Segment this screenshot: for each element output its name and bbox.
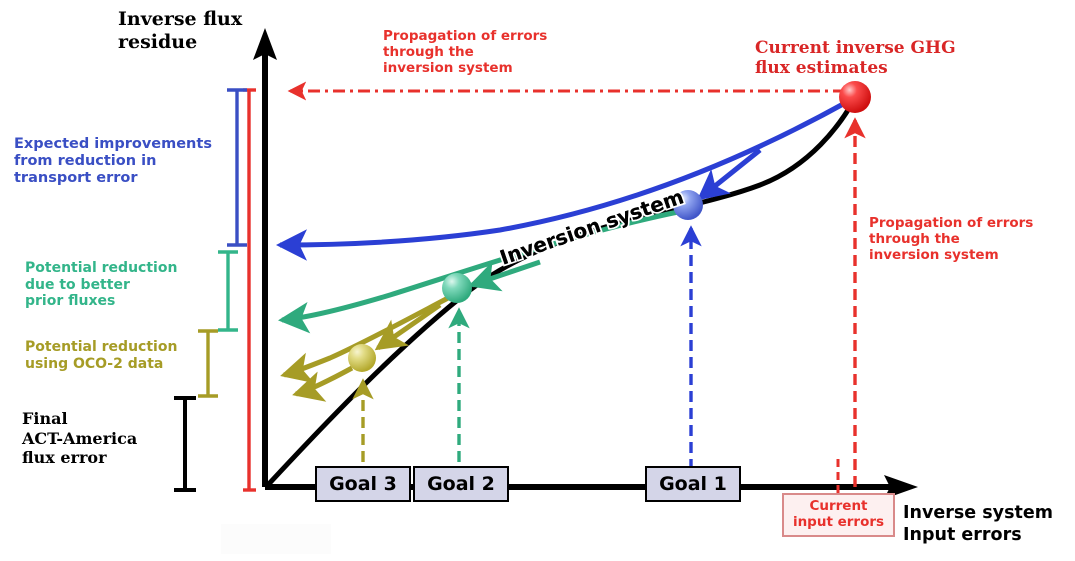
propagation-top-label: Propagation of errors through the invers… (383, 29, 547, 77)
goal-1-box[interactable]: Goal 1 (645, 466, 741, 502)
olive-arrow-lower (296, 368, 352, 394)
axis-y (253, 28, 277, 487)
goal-3-box[interactable]: Goal 3 (315, 466, 411, 502)
propagation-right-label: Propagation of errors through the invers… (869, 216, 1033, 264)
background-artifact (221, 524, 331, 554)
expected-improvements-label: Expected improvements from reduction in … (14, 136, 212, 187)
potential-prior-fluxes-label: Potential reduction due to better prior … (25, 260, 177, 310)
marker-current-estimate (839, 81, 871, 113)
bracket-total-red (243, 90, 256, 490)
potential-oco2-label: Potential reduction using OCO-2 data (25, 339, 177, 372)
final-act-america-label: Final ACT-America flux error (22, 409, 137, 468)
bracket-expected-improvements (227, 90, 247, 245)
diagram-canvas: Inverse flux residue Inverse system Inpu… (0, 0, 1075, 561)
bracket-potential-oco2 (198, 331, 218, 396)
response-curve-black (266, 100, 854, 487)
x-axis-label: Inverse system Input errors (903, 503, 1053, 547)
current-ghg-estimates-label: Current inverse GHG flux estimates (755, 38, 956, 79)
bracket-final-act-america (174, 398, 196, 490)
marker-goal-3 (348, 344, 376, 372)
y-axis-label: Inverse flux residue (118, 8, 242, 54)
marker-goal-2 (442, 273, 472, 303)
current-input-errors-box[interactable]: Current input errors (782, 493, 895, 537)
goal-2-box[interactable]: Goal 2 (413, 466, 509, 502)
bracket-potential-prior (218, 252, 238, 330)
